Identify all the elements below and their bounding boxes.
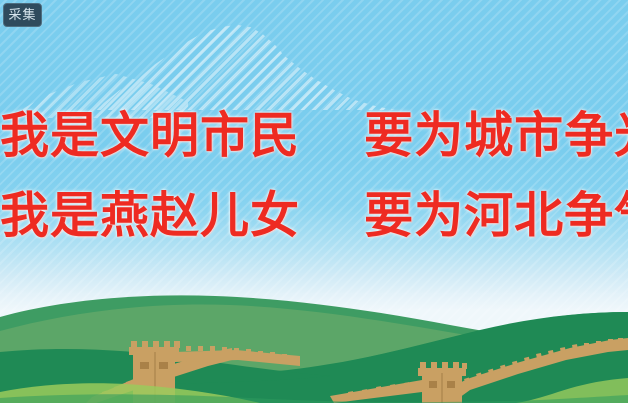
slogan-line-1-right: 要为城市争光	[364, 107, 628, 164]
slogan-line-2: 我是燕赵儿女 要为河北争气	[0, 176, 628, 256]
poster-image: 我是文明市民 要为城市争光 我是燕赵儿女 要为河北争气 采集	[0, 0, 628, 403]
slogan-block: 我是文明市民 要为城市争光 我是燕赵儿女 要为河北争气	[0, 96, 628, 256]
slogan-line-2-right: 要为河北争气	[364, 187, 628, 244]
slogan-line-1-left: 我是文明市民	[0, 107, 300, 164]
slogan-line-1: 我是文明市民 要为城市争光	[0, 96, 628, 176]
slogan-line-2-left: 我是燕赵儿女	[0, 187, 300, 244]
capture-button[interactable]: 采集	[3, 3, 42, 27]
